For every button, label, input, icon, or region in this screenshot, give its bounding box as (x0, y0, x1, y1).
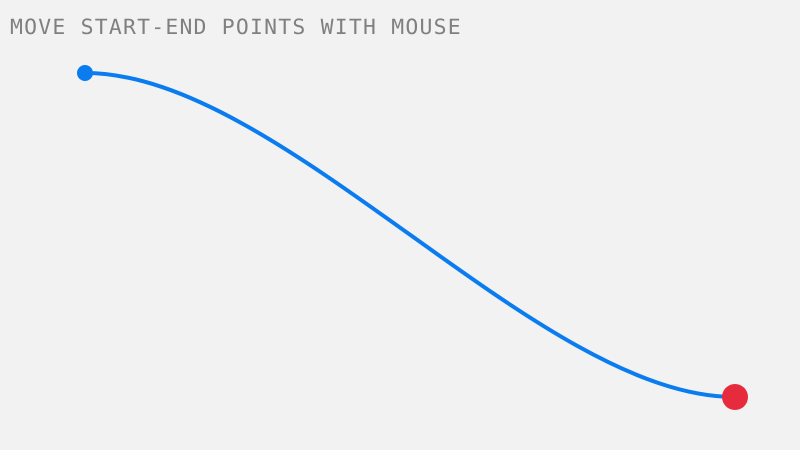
start-point-handle[interactable] (77, 65, 93, 81)
end-point-handle[interactable] (722, 384, 748, 410)
bezier-curve (85, 73, 735, 397)
app-root: MOVE START-END POINTS WITH MOUSE (0, 0, 800, 450)
curve-canvas[interactable] (0, 0, 800, 450)
